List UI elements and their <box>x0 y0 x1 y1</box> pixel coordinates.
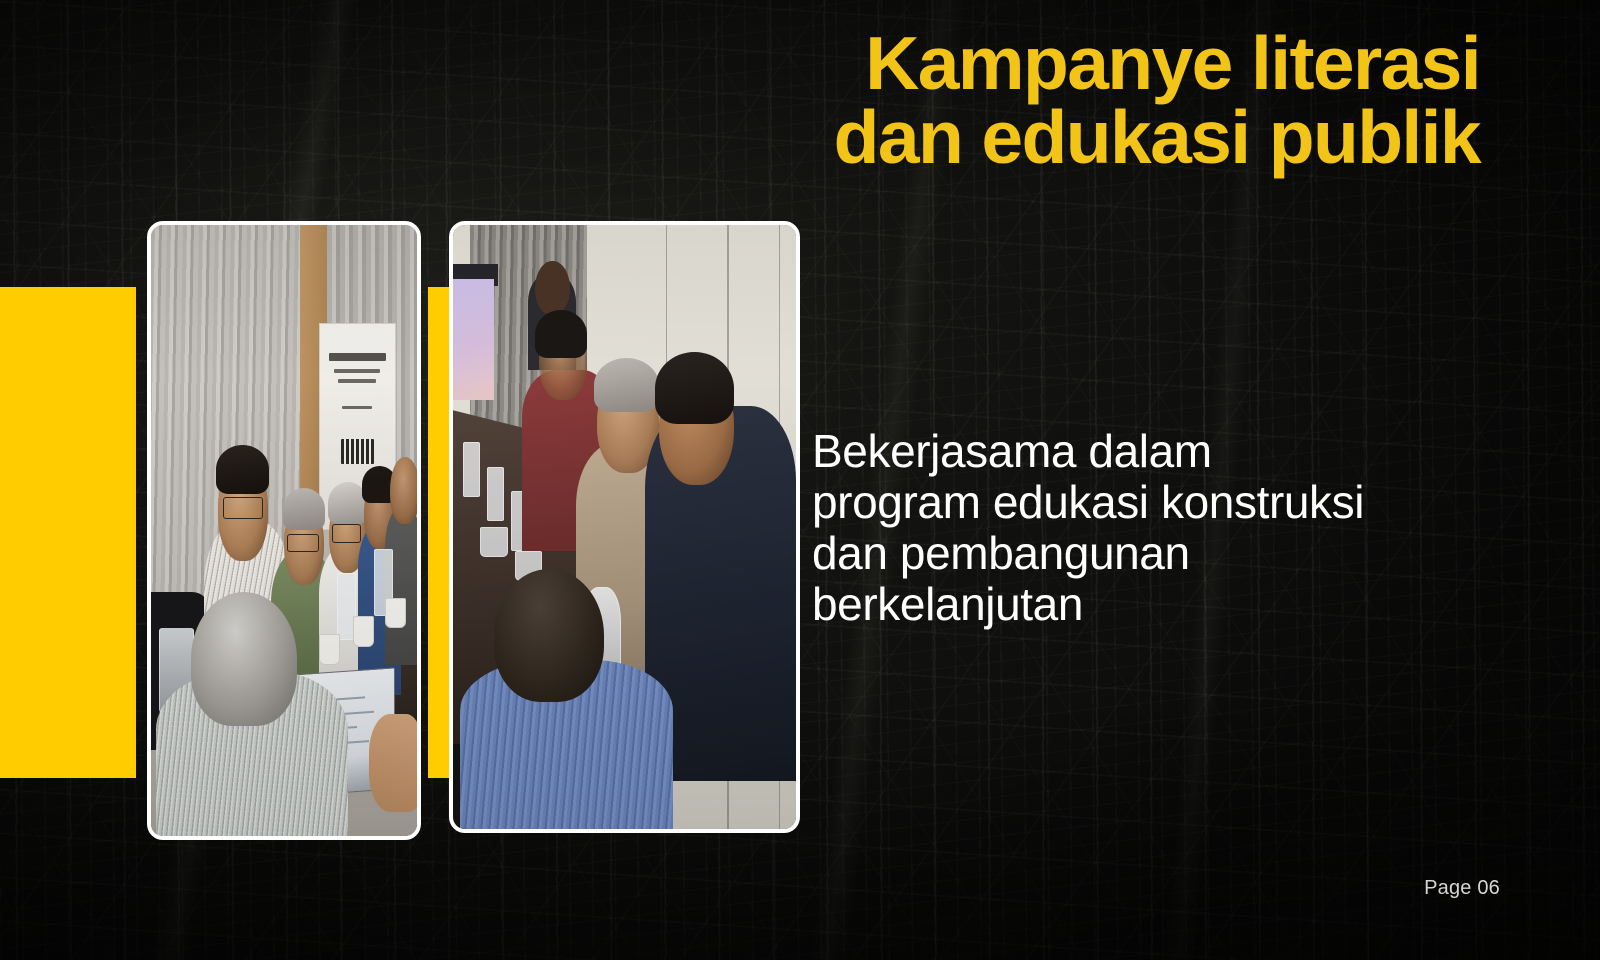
meeting-photo-right <box>449 221 800 833</box>
body-line-2: program edukasi konstruksi <box>812 477 1532 528</box>
yellow-accent-block-left <box>0 287 136 778</box>
title-line-2: dan edukasi publik <box>680 100 1480 174</box>
slide-title: Kampanye literasi dan edukasi publik <box>680 26 1480 175</box>
slide-body-text: Bekerjasama dalam program edukasi konstr… <box>812 426 1532 630</box>
meeting-photo-right-image <box>453 225 796 829</box>
photo-shade-overlay <box>151 225 417 836</box>
meeting-photo-left-image <box>151 225 417 836</box>
photo-shade-overlay-2 <box>453 225 796 829</box>
body-line-3: dan pembangunan <box>812 528 1532 579</box>
body-line-4: berkelanjutan <box>812 579 1532 630</box>
meeting-photo-left <box>147 221 421 840</box>
page-number: Page 06 <box>1424 877 1500 900</box>
body-line-1: Bekerjasama dalam <box>812 426 1532 477</box>
presentation-slide: Kampanye literasi dan edukasi publik Bek… <box>0 0 1600 960</box>
title-line-1: Kampanye literasi <box>680 26 1480 100</box>
